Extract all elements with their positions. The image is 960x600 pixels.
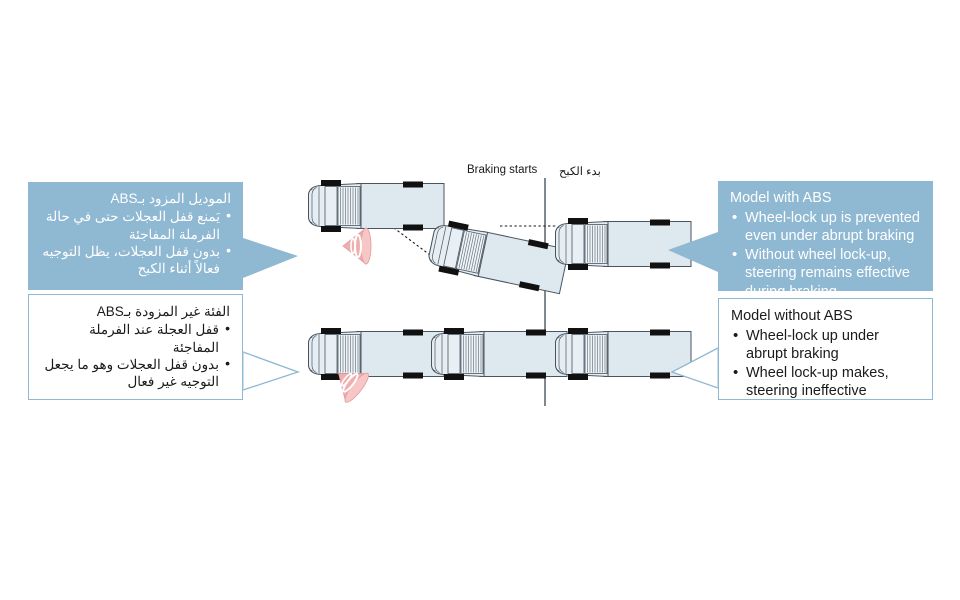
tail-arabic-abs [243,238,298,278]
callout-english-abs-title: Model with ABS [730,189,921,208]
callout-english-no-abs-bullet-1: Wheel-lock up under abrupt braking [731,327,920,364]
diagram-canvas: Braking starts بدء الكبح [0,0,960,600]
callout-arabic-abs-title: الموديل المزود بـABS [40,190,231,207]
callout-english-no-abs-list: Wheel-lock up under abrupt braking Wheel… [731,327,920,401]
tail-arabic-no-abs [243,352,298,390]
tail-english-abs [668,232,718,272]
callout-arabic-without-abs: الفئة غير المزودة بـABS قفل العجلة عند ا… [28,294,243,400]
callout-arabic-no-abs-bullet-2: بدون قفل العجلات وهو ما يجعل التوجيه غير… [41,356,230,391]
callout-english-abs-list: Wheel-lock up is prevented even under ab… [730,209,921,302]
callout-arabic-abs-bullet-1: يَمنع قفل العجلات حتى في حالة الفرملة ال… [40,208,231,243]
callout-english-with-abs: Model with ABS Wheel-lock up is prevente… [718,181,933,291]
callout-arabic-no-abs-bullet-1: قفل العجلة عند الفرملة المفاجئة [41,321,230,356]
callout-arabic-abs-bullet-2: بدون قفل العجلات، يظل التوجيه فعالاً أثن… [40,243,231,278]
callout-english-no-abs-bullet-2: Wheel lock-up makes, steering ineffectiv… [731,364,920,401]
callout-english-no-abs-title: Model without ABS [731,307,920,326]
callout-arabic-no-abs-title: الفئة غير المزودة بـABS [41,303,230,320]
callout-arabic-abs-list: يَمنع قفل العجلات حتى في حالة الفرملة ال… [40,208,231,277]
callout-english-abs-bullet-2: Without wheel lock-up, steering remains … [730,246,921,302]
callout-english-without-abs: Model without ABS Wheel-lock up under ab… [718,298,933,400]
callout-arabic-no-abs-list: قفل العجلة عند الفرملة المفاجئة بدون قفل… [41,321,230,390]
callout-arabic-with-abs: الموديل المزود بـABS يَمنع قفل العجلات ح… [28,182,243,290]
callout-english-abs-bullet-1: Wheel-lock up is prevented even under ab… [730,209,921,246]
tail-english-no-abs [672,348,718,388]
